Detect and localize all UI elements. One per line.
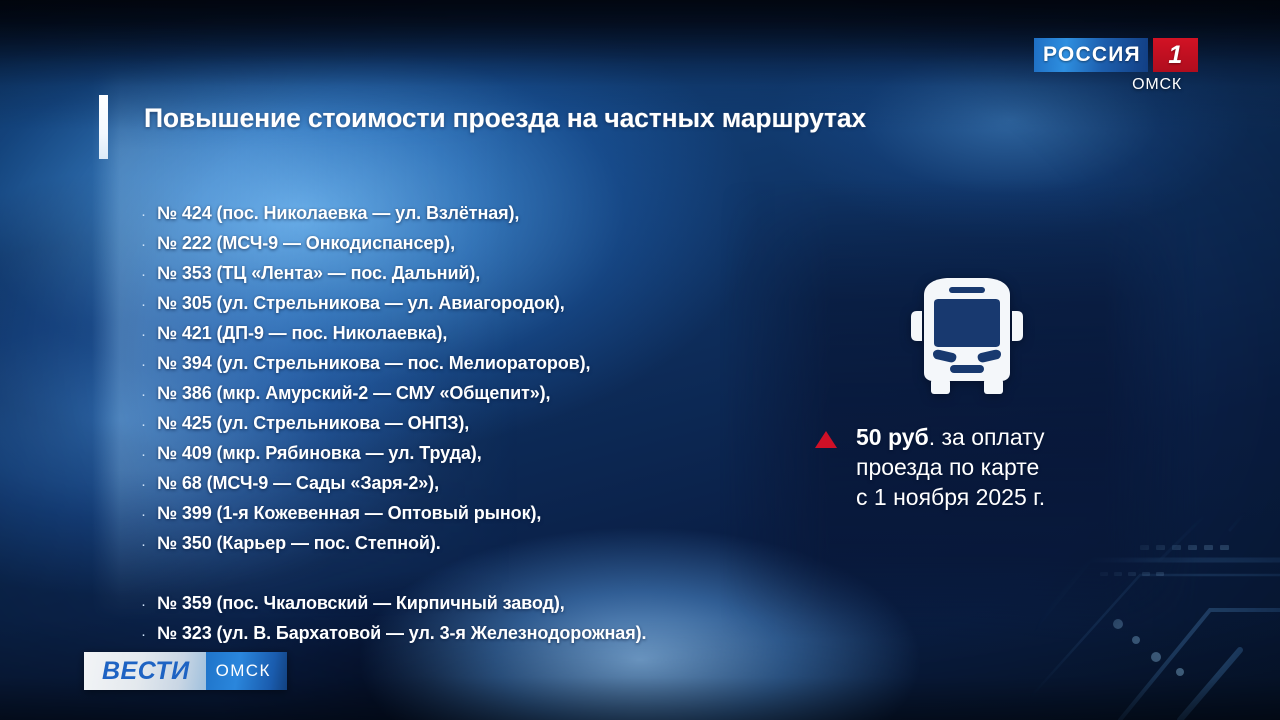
list-item: ·№ 421 (ДП-9 — пос. Николаевка), — [141, 318, 841, 348]
route-label: № 350 (Карьер — пос. Степной). — [157, 528, 441, 558]
list-item: ·№ 409 (мкр. Рябиновка — ул. Труда), — [141, 438, 841, 468]
route-label: № 424 (пос. Николаевка — ул. Взлётная), — [157, 198, 519, 228]
price-callout-line-1: 50 руб. за оплату — [856, 422, 1045, 452]
list-item: ·№ 359 (пос. Чкаловский — Кирпичный заво… — [141, 588, 841, 618]
route-group: ·№ 424 (пос. Николаевка — ул. Взлётная),… — [141, 198, 841, 558]
list-item: ·№ 399 (1-я Кожевенная — Оптовый рынок), — [141, 498, 841, 528]
route-label: № 399 (1-я Кожевенная — Оптовый рынок), — [157, 498, 541, 528]
price-amount: 50 руб — [856, 424, 929, 450]
list-item: ·№ 394 (ул. Стрельникова — пос. Мелиорат… — [141, 348, 841, 378]
route-label: № 305 (ул. Стрельникова — ул. Авиагородо… — [157, 288, 565, 318]
channel-city: ОМСК — [1034, 76, 1192, 94]
route-label: № 222 (МСЧ-9 — Онкодиспансер), — [157, 228, 455, 258]
programme-name: ВЕСТИ — [84, 652, 206, 690]
bullet-icon: · — [141, 290, 157, 320]
bullet-icon: · — [141, 620, 157, 650]
programme-logo: ВЕСТИ ОМСК — [84, 652, 287, 690]
price-callout: 50 руб. за оплату проезда по карте с 1 н… — [815, 422, 1045, 512]
price-callout-text: 50 руб. за оплату проезда по карте с 1 н… — [856, 422, 1045, 512]
bullet-icon: · — [141, 440, 157, 470]
route-label: № 353 (ТЦ «Лента» — пос. Дальний), — [157, 258, 480, 288]
list-item: ·№ 425 (ул. Стрельникова — ОНПЗ), — [141, 408, 841, 438]
title-accent-bar — [99, 95, 108, 159]
broadcast-slide: РОССИЯ 1 ОМСК Повышение стоимости проезд… — [0, 0, 1280, 720]
bullet-icon: · — [141, 380, 157, 410]
bullet-icon: · — [141, 530, 157, 560]
page-title: Повышение стоимости проезда на частных м… — [144, 103, 866, 134]
route-label: № 421 (ДП-9 — пос. Николаевка), — [157, 318, 447, 348]
bullet-icon: · — [141, 320, 157, 350]
route-label: № 359 (пос. Чкаловский — Кирпичный завод… — [157, 588, 565, 618]
bullet-icon: · — [141, 590, 157, 620]
price-amount-suffix: . за оплату — [929, 424, 1045, 450]
bullet-icon: · — [141, 410, 157, 440]
list-item: ·№ 350 (Карьер — пос. Степной). — [141, 528, 841, 558]
bullet-icon: · — [141, 230, 157, 260]
route-label: № 394 (ул. Стрельникова — пос. Мелиорато… — [157, 348, 590, 378]
price-callout-line-2: проезда по карте — [856, 452, 1045, 482]
route-label: № 409 (мкр. Рябиновка — ул. Труда), — [157, 438, 482, 468]
list-item: ·№ 386 (мкр. Амурский-2 — СМУ «Общепит»)… — [141, 378, 841, 408]
price-increase-triangle-icon — [815, 431, 837, 448]
bullet-icon: · — [141, 500, 157, 530]
route-label: № 386 (мкр. Амурский-2 — СМУ «Общепит»), — [157, 378, 550, 408]
list-item: ·№ 323 (ул. В. Бархатовой — ул. 3-я Желе… — [141, 618, 841, 648]
route-group: ·№ 359 (пос. Чкаловский — Кирпичный заво… — [141, 588, 841, 648]
channel-number: 1 — [1153, 38, 1198, 72]
programme-city: ОМСК — [206, 652, 287, 690]
bus-icon — [893, 277, 1041, 399]
channel-name: РОССИЯ — [1034, 38, 1148, 72]
bullet-icon: · — [141, 470, 157, 500]
route-label: № 68 (МСЧ-9 — Сады «Заря-2»), — [157, 468, 439, 498]
channel-logo: РОССИЯ 1 ОМСК — [1034, 38, 1192, 94]
price-callout-line-3: с 1 ноября 2025 г. — [856, 482, 1045, 512]
list-item: ·№ 222 (МСЧ-9 — Онкодиспансер), — [141, 228, 841, 258]
list-item: ·№ 305 (ул. Стрельникова — ул. Авиагород… — [141, 288, 841, 318]
route-label: № 425 (ул. Стрельникова — ОНПЗ), — [157, 408, 469, 438]
slide-title-block: Повышение стоимости проезда на частных м… — [99, 95, 866, 159]
list-item: ·№ 353 (ТЦ «Лента» — пос. Дальний), — [141, 258, 841, 288]
route-list: ·№ 424 (пос. Николаевка — ул. Взлётная),… — [141, 198, 841, 648]
bullet-icon: · — [141, 350, 157, 380]
list-item: ·№ 424 (пос. Николаевка — ул. Взлётная), — [141, 198, 841, 228]
list-item: ·№ 68 (МСЧ-9 — Сады «Заря-2»), — [141, 468, 841, 498]
bullet-icon: · — [141, 200, 157, 230]
channel-logo-row: РОССИЯ 1 — [1034, 38, 1192, 72]
bullet-icon: · — [141, 260, 157, 290]
route-label: № 323 (ул. В. Бархатовой — ул. 3-я Желез… — [157, 618, 646, 648]
